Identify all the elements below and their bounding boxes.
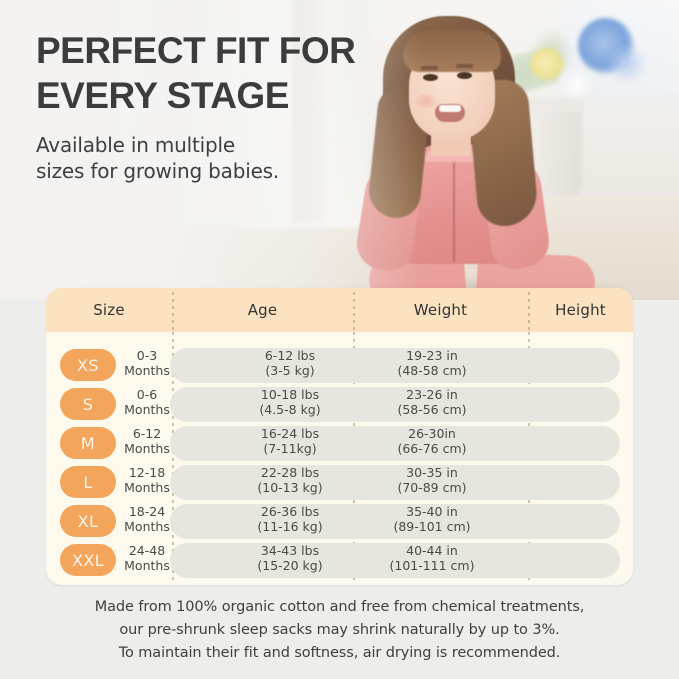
cell-height: 26-30in (66-76 cm): [376, 427, 488, 456]
column-divider: [172, 292, 174, 330]
care-line-3: To maintain their fit and softness, air …: [0, 642, 679, 665]
size-chart-card: Size Age Weight Height XS 0-3 Months 6-1…: [46, 288, 633, 585]
cell-height-cm: (101-111 cm): [376, 559, 488, 574]
cell-age-value: 18-24: [92, 505, 202, 520]
cell-weight: 10-18 lbs (4.5-8 kg): [231, 388, 349, 417]
cell-weight-kg: (3-5 kg): [231, 364, 349, 379]
headline-line-1: PERFECT FIT FOR: [36, 28, 456, 73]
cell-age-value: 0-3: [92, 349, 202, 364]
cell-weight-lbs: 34-43 lbs: [231, 544, 349, 559]
cell-age-value: 0-6: [92, 388, 202, 403]
table-row[interactable]: L 12-18 Months 22-28 lbs (10-13 kg) 30-3…: [46, 463, 633, 502]
eye-right: [457, 72, 472, 79]
table-row[interactable]: XXL 24-48 Months 34-43 lbs (15-20 kg) 40…: [46, 541, 633, 580]
care-instructions: Made from 100% organic cotton and free f…: [0, 596, 679, 665]
cell-height-cm: (58-56 cm): [376, 403, 488, 418]
column-divider: [353, 292, 355, 330]
cell-height: 19-23 in (48-58 cm): [376, 349, 488, 378]
cell-height-in: 23-26 in: [376, 388, 488, 403]
cell-weight-kg: (10-13 kg): [231, 481, 349, 496]
table-row[interactable]: M 6-12 Months 16-24 lbs (7-11kg) 26-30in…: [46, 424, 633, 463]
cell-weight-lbs: 16-24 lbs: [231, 427, 349, 442]
table-row[interactable]: XL 18-24 Months 26-36 lbs (11-16 kg) 35-…: [46, 502, 633, 541]
cell-age: 0-3 Months: [92, 349, 202, 378]
cell-age: 6-12 Months: [92, 427, 202, 456]
cell-height-cm: (70-89 cm): [376, 481, 488, 496]
column-header-height: Height: [528, 288, 633, 332]
cell-height: 40-44 in (101-111 cm): [376, 544, 488, 573]
cell-weight: 22-28 lbs (10-13 kg): [231, 466, 349, 495]
cell-height-in: 35-40 in: [376, 505, 488, 520]
cell-age-unit: Months: [92, 442, 202, 457]
column-divider: [528, 292, 530, 330]
subheadline-line-1: Available in multiple: [36, 133, 235, 157]
cell-weight-kg: (7-11kg): [231, 442, 349, 457]
table-row[interactable]: S 0-6 Months 10-18 lbs (4.5-8 kg) 23-26 …: [46, 385, 633, 424]
column-header-size: Size: [46, 288, 172, 332]
subheadline: Available in multiple sizes for growing …: [36, 132, 456, 184]
cell-age-value: 6-12: [92, 427, 202, 442]
hero-banner: PERFECT FIT FOR EVERY STAGE Available in…: [0, 0, 679, 300]
cell-height-in: 40-44 in: [376, 544, 488, 559]
cell-weight: 6-12 lbs (3-5 kg): [231, 349, 349, 378]
cell-weight: 34-43 lbs (15-20 kg): [231, 544, 349, 573]
cell-height: 30-35 in (70-89 cm): [376, 466, 488, 495]
cell-height: 23-26 in (58-56 cm): [376, 388, 488, 417]
cell-age: 0-6 Months: [92, 388, 202, 417]
cell-age: 12-18 Months: [92, 466, 202, 495]
cell-height-in: 30-35 in: [376, 466, 488, 481]
cell-age: 24-48 Months: [92, 544, 202, 573]
cell-age-unit: Months: [92, 364, 202, 379]
table-row[interactable]: XS 0-3 Months 6-12 lbs (3-5 kg) 19-23 in…: [46, 346, 633, 385]
cell-height-in: 26-30in: [376, 427, 488, 442]
care-line-1: Made from 100% organic cotton and free f…: [0, 596, 679, 619]
cell-height-cm: (89-101 cm): [376, 520, 488, 535]
cell-age-value: 24-48: [92, 544, 202, 559]
cell-weight-kg: (4.5-8 kg): [231, 403, 349, 418]
cell-weight-lbs: 10-18 lbs: [231, 388, 349, 403]
cell-height: 35-40 in (89-101 cm): [376, 505, 488, 534]
cell-age-unit: Months: [92, 559, 202, 574]
cell-weight-kg: (11-16 kg): [231, 520, 349, 535]
column-header-age: Age: [172, 288, 353, 332]
cell-age-unit: Months: [92, 481, 202, 496]
care-line-2: our pre-shrunk sleep sacks may shrink na…: [0, 619, 679, 642]
cell-weight-kg: (15-20 kg): [231, 559, 349, 574]
cell-weight-lbs: 6-12 lbs: [231, 349, 349, 364]
cell-weight-lbs: 22-28 lbs: [231, 466, 349, 481]
cell-height-cm: (66-76 cm): [376, 442, 488, 457]
cell-age-unit: Months: [92, 403, 202, 418]
headline-block: PERFECT FIT FOR EVERY STAGE Available in…: [36, 28, 456, 184]
subheadline-line-2: sizes for growing babies.: [36, 159, 279, 183]
eyebrow-right: [456, 64, 473, 68]
cell-weight: 16-24 lbs (7-11kg): [231, 427, 349, 456]
headline-line-2: EVERY STAGE: [36, 73, 456, 118]
cell-weight: 26-36 lbs (11-16 kg): [231, 505, 349, 534]
cell-height-cm: (48-58 cm): [376, 364, 488, 379]
column-header-weight: Weight: [353, 288, 528, 332]
cell-age-value: 12-18: [92, 466, 202, 481]
cell-height-in: 19-23 in: [376, 349, 488, 364]
cell-weight-lbs: 26-36 lbs: [231, 505, 349, 520]
cell-age: 18-24 Months: [92, 505, 202, 534]
cell-age-unit: Months: [92, 520, 202, 535]
